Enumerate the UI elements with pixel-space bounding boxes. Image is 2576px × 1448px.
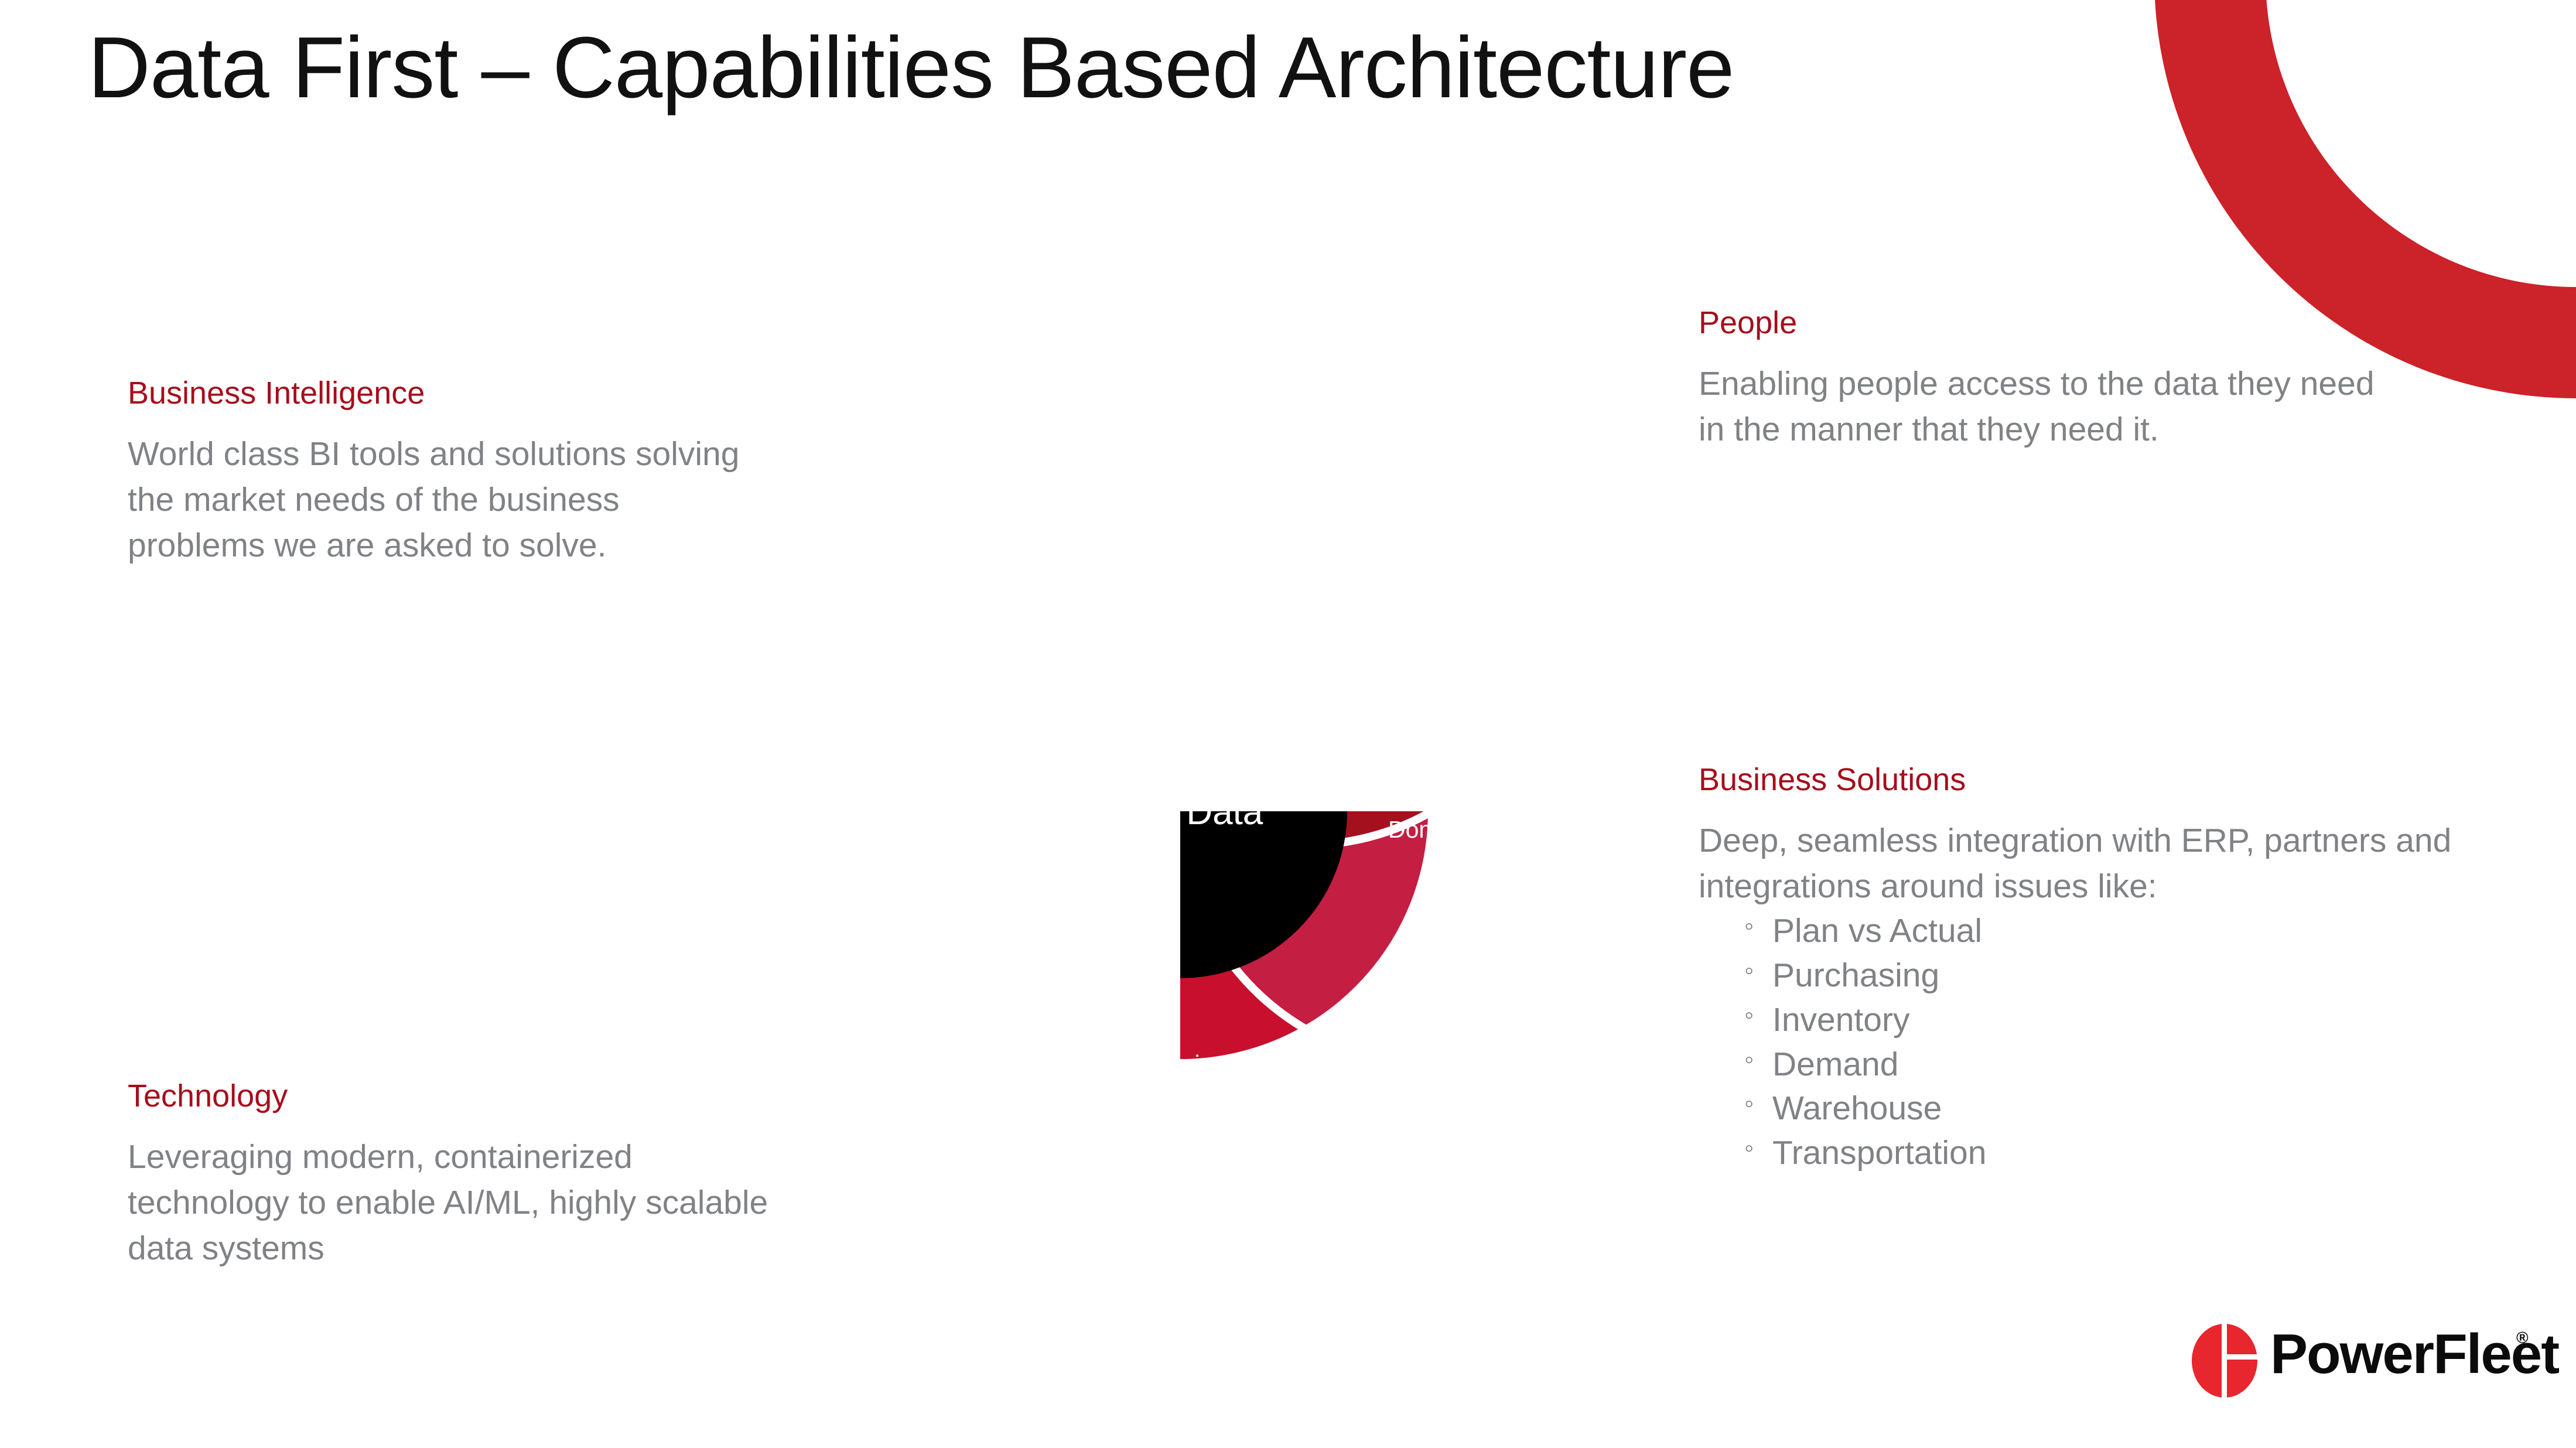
pinwheel-diagram: Data Hub Centers of Execellence Supply C…	[700, 290, 1707, 1321]
petal-label-supply-chain: Supply Chain	[1388, 752, 1531, 778]
block-body-business-solutions: Deep, seamless integration with ERP, par…	[1699, 818, 2460, 909]
petal-label-data-sharing-services: Data Sharing	[890, 951, 1030, 978]
text-block-business-solutions: Business Solutions Deep, seamless integr…	[1699, 761, 2460, 1176]
slide-canvas: Data First – Capabilities Based Architec…	[0, 0, 2576, 1448]
text-block-business-intelligence: Business Intelligence World class BI too…	[128, 375, 760, 568]
petal-label-data-hub: Data Hub	[1020, 447, 1122, 474]
petal-label-centers-of-execellence: Centers of	[1312, 523, 1423, 550]
block-body-people: Enabling people access to the data they …	[1699, 361, 2390, 452]
registered-trademark-symbol: ®	[2516, 1329, 2529, 1347]
petal-label-supply-chain-line2: and Vehicle	[1388, 784, 1512, 811]
petal-label-supply-chain-line3: Domains	[1388, 816, 1483, 843]
list-item: Purchasing	[1744, 954, 2460, 998]
block-heading-business-solutions: Business Solutions	[1699, 761, 2460, 798]
block-body-business-intelligence: World class BI tools and solutions solvi…	[128, 431, 760, 568]
petal-business-intelligence	[836, 467, 1495, 1139]
block-heading-people: People	[1699, 305, 2390, 341]
list-item: Inventory	[1744, 998, 2460, 1043]
petal-label-enterprise-data-architecture-line2: Architecture	[1116, 1082, 1244, 1109]
core-data-label: Core Data	[1098, 792, 1263, 832]
list-item: Warehouse	[1744, 1087, 2460, 1131]
list-item: Plan vs Actual	[1744, 909, 2460, 954]
petal-label-business-intelligence: Business Intelligence	[805, 687, 1031, 714]
powerfleet-wordmark: PowerFleet	[2270, 1326, 2558, 1382]
business-solutions-bullet-list: Plan vs Actual Purchasing Inventory Dema…	[1699, 909, 2460, 1176]
block-heading-business-intelligence: Business Intelligence	[128, 375, 760, 411]
petal-label-centers-of-execellence-line2: Execellence	[1312, 555, 1441, 582]
petal-label-data-sharing-services-line2: Services	[890, 983, 982, 1010]
list-item: Transportation	[1744, 1131, 2460, 1176]
powerfleet-logo: PowerFleet ®	[2191, 1318, 2542, 1406]
powerfleet-mark-icon	[2191, 1323, 2259, 1399]
text-block-people: People Enabling people access to the dat…	[1699, 305, 2390, 452]
page-title: Data First – Capabilities Based Architec…	[88, 18, 1786, 118]
list-item: Demand	[1744, 1043, 2460, 1087]
petal-label-enterprise-data-architecture: Enterprise Data	[1116, 1050, 1283, 1077]
